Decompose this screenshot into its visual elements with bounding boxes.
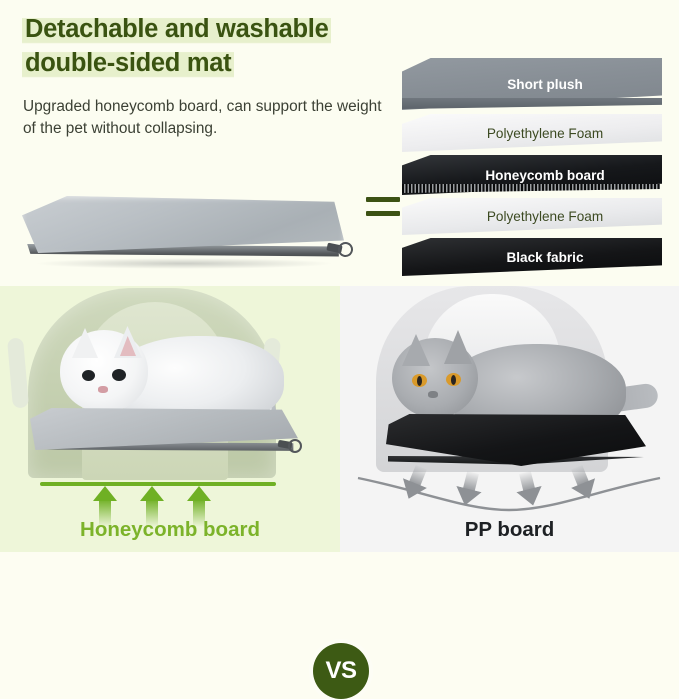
- mat-shadow: [34, 258, 334, 269]
- layer-honeycomb-board: Honeycomb board: [402, 155, 662, 195]
- cat-eye-left: [82, 370, 95, 381]
- layer-label: Polyethylene Foam: [487, 209, 603, 224]
- cat-head: [60, 330, 148, 412]
- carrier-handle-left: [7, 337, 29, 408]
- zipper-pull-ring: [337, 241, 355, 259]
- pp-mat-sagging: [386, 414, 646, 476]
- headline-line-1: Detachable and washable: [22, 14, 331, 45]
- layer-polyethylene-foam-bottom: Polyethylene Foam: [402, 198, 662, 235]
- cat-ear-right: [444, 330, 472, 364]
- product-mat-image: [16, 196, 351, 274]
- layer-stack-diagram: Short plush Polyethylene Foam Honeycomb …: [402, 58, 670, 273]
- cat-pupil-right: [451, 375, 456, 385]
- page-title: Detachable and washable double-sided mat: [22, 14, 402, 79]
- layer-label: Short plush: [507, 77, 583, 92]
- corrugation-pattern: [402, 184, 660, 193]
- top-section: Detachable and washable double-sided mat…: [0, 0, 679, 286]
- cat-eye-right: [112, 369, 126, 381]
- layer-black-fabric: Black fabric: [402, 238, 662, 276]
- layer-edge: [402, 98, 662, 109]
- comparison-section: Honeycomb board: [0, 286, 679, 552]
- equals-bar-bottom: [366, 211, 400, 216]
- caption-honeycomb-board: Honeycomb board: [0, 518, 340, 542]
- cat-nose: [428, 391, 438, 398]
- equals-sign-icon: [366, 197, 400, 223]
- mat-top-surface: [22, 196, 344, 253]
- honeycomb-mat-flat: [30, 408, 298, 464]
- caption-pp-board: PP board: [340, 518, 679, 542]
- cat-nose: [98, 386, 108, 393]
- equals-bar-top: [366, 197, 400, 202]
- infographic-page: Detachable and washable double-sided mat…: [0, 0, 679, 552]
- comparison-panel-honeycomb: Honeycomb board: [0, 286, 340, 552]
- subtitle-text: Upgraded honeycomb board, can support th…: [23, 96, 389, 141]
- cat-ear-left: [402, 334, 430, 366]
- cat-pupil-left: [417, 376, 422, 386]
- headline-line-2: double-sided mat: [22, 48, 234, 79]
- cat-ear-left: [72, 328, 98, 358]
- layer-label: Honeycomb board: [485, 168, 604, 183]
- cat-head: [392, 338, 478, 418]
- layer-label: Polyethylene Foam: [487, 126, 603, 141]
- layer-short-plush: Short plush: [402, 58, 662, 110]
- zipper-icon: [278, 438, 302, 454]
- comparison-panel-pp: PP board: [340, 286, 679, 552]
- layer-polyethylene-foam-top: Polyethylene Foam: [402, 114, 662, 152]
- vs-badge: VS: [313, 643, 369, 699]
- layer-label: Black fabric: [506, 250, 583, 265]
- zipper-pull-ring: [288, 439, 302, 453]
- zipper-icon: [327, 241, 353, 259]
